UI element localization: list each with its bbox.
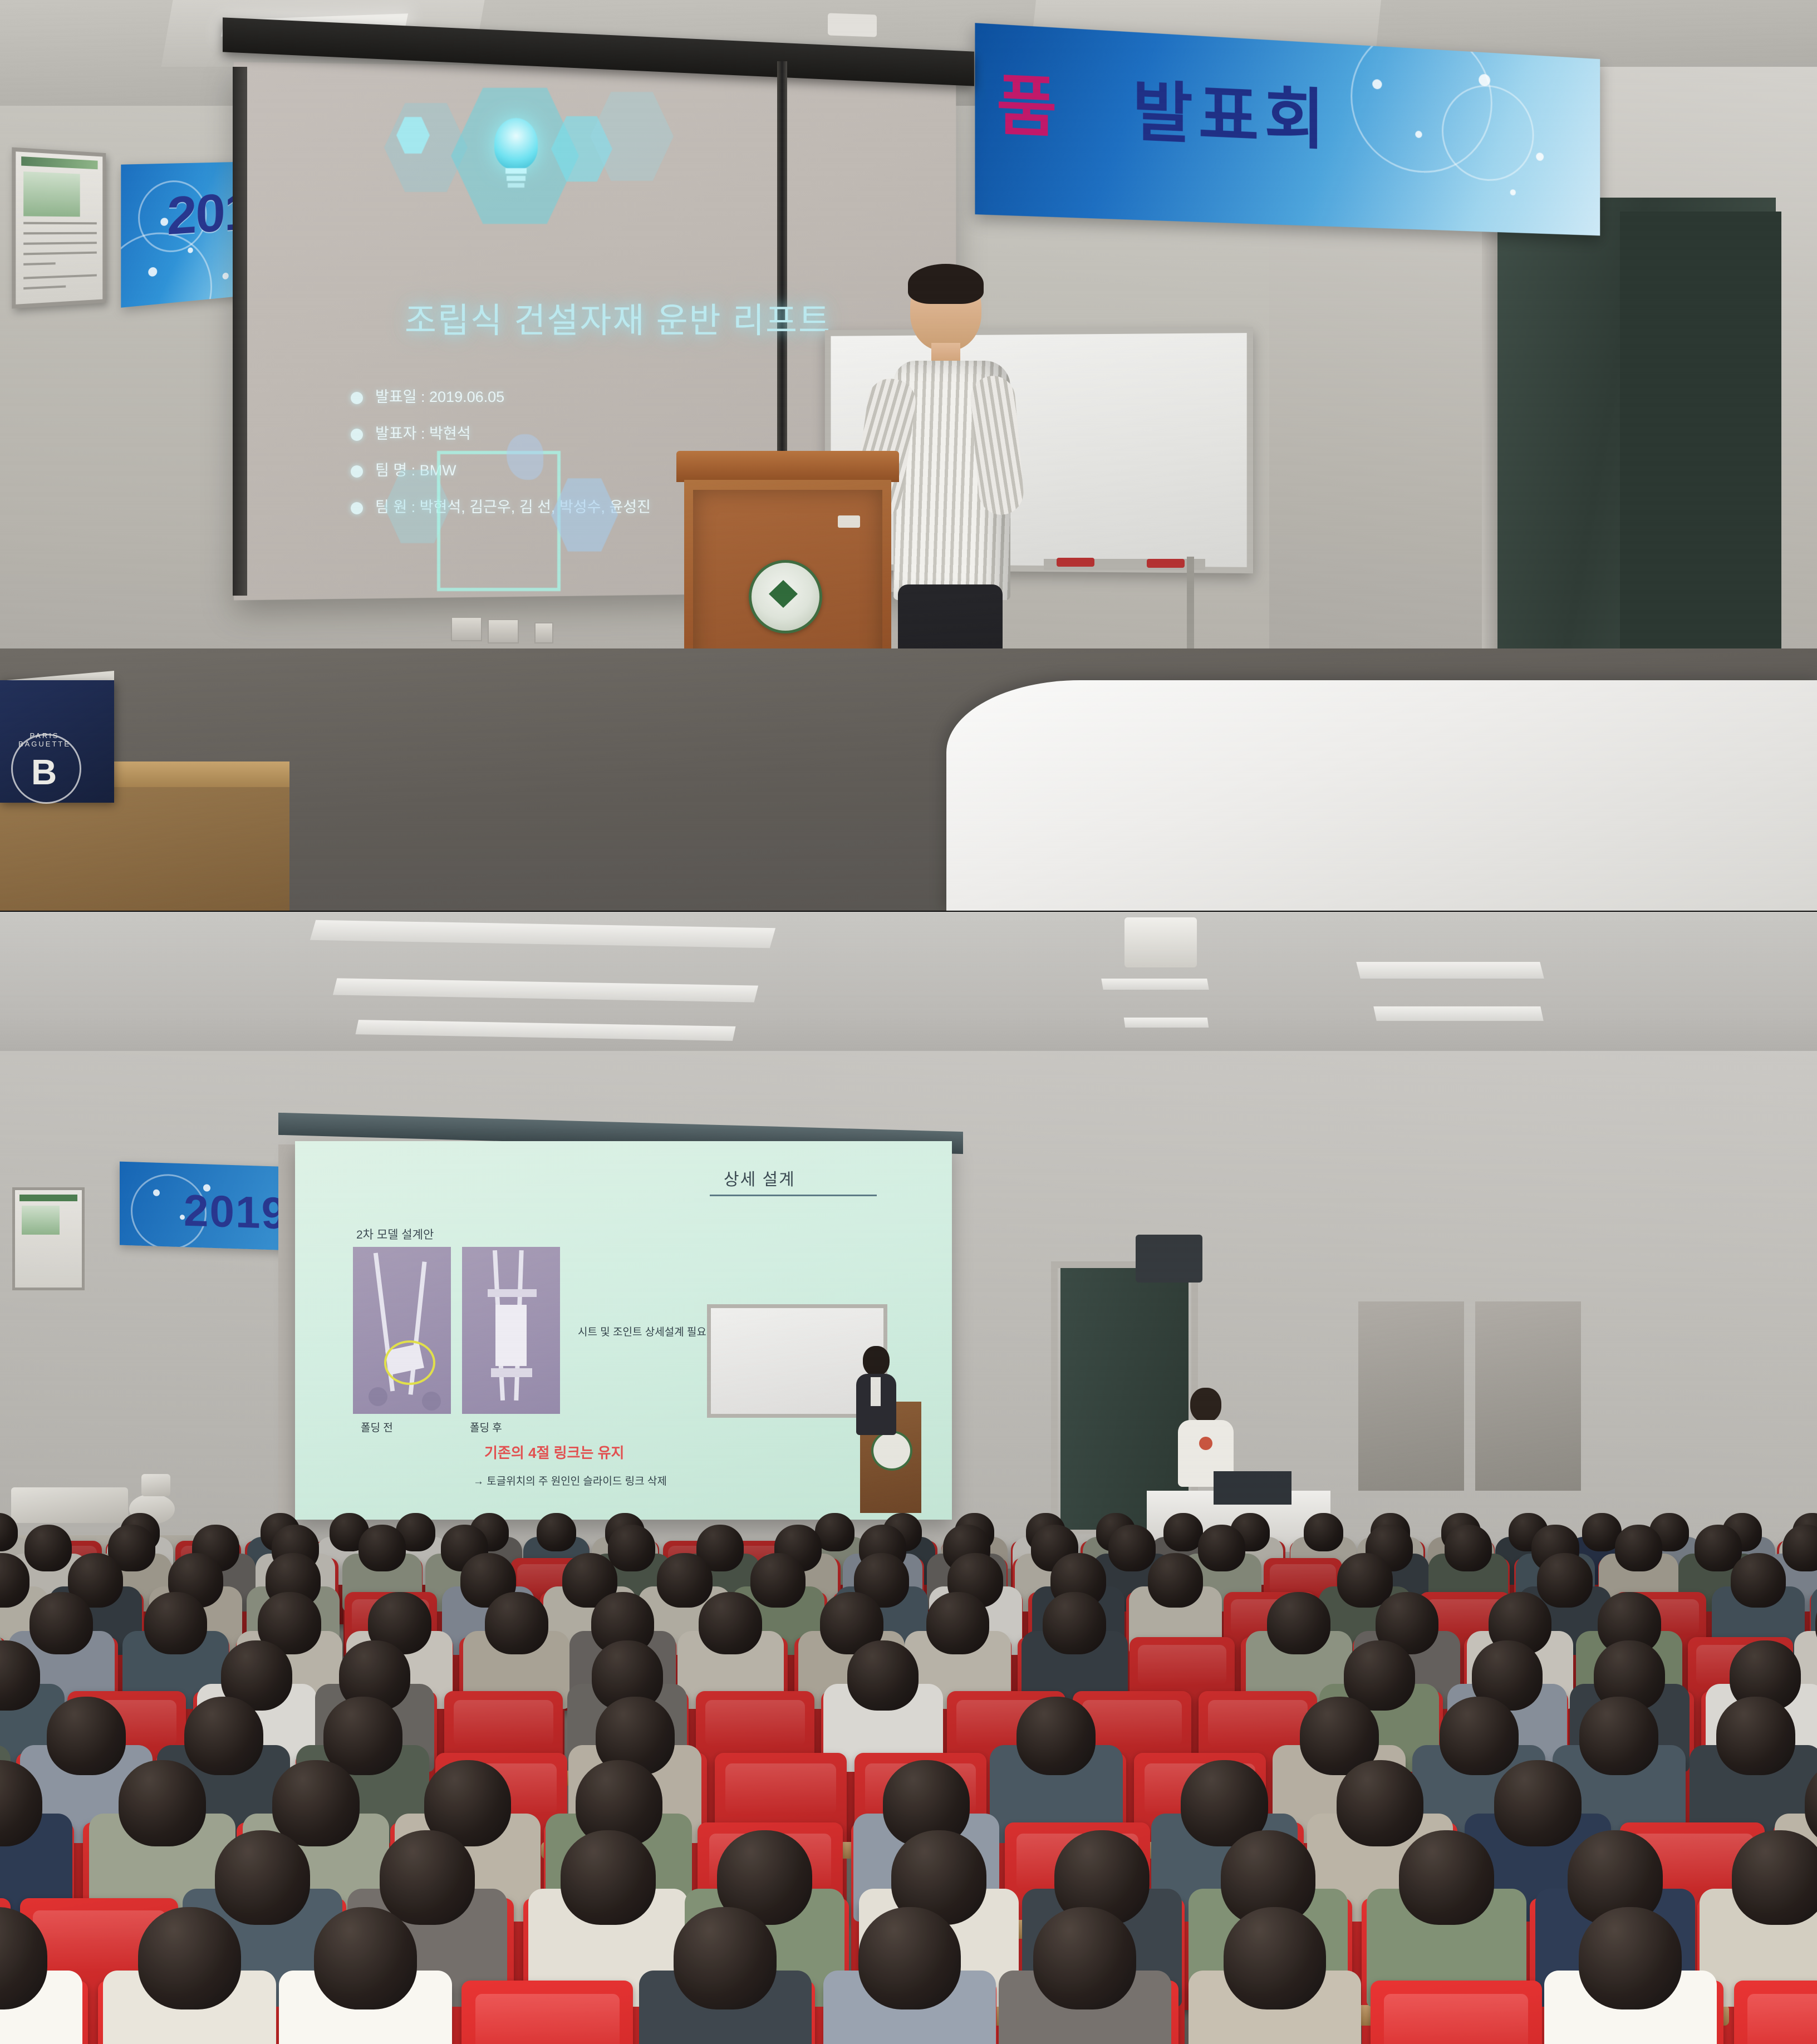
photo-panel-top: 2019 품 발표회 — [0, 0, 1817, 912]
audience-member-head — [184, 1697, 263, 1775]
audience-member-head — [323, 1697, 402, 1775]
hexagon-icon — [384, 445, 651, 590]
audience-member-head — [1440, 1697, 1519, 1775]
audience-member-head — [380, 1830, 475, 1925]
audience-member-head — [1731, 1553, 1786, 1608]
audience-member-head — [926, 1592, 990, 1654]
audience-member-head — [561, 1830, 656, 1925]
wall-notice-frame — [12, 1187, 85, 1290]
projector — [1124, 917, 1197, 967]
audience-member-head — [1732, 1830, 1817, 1925]
audience-member-head — [1337, 1760, 1423, 1846]
audience-member-head — [1043, 1592, 1106, 1654]
slide-red-line: 기존의 4절 링크는 유지 — [484, 1442, 624, 1462]
audience-member-head — [750, 1553, 806, 1608]
slide-side-note: 시트 및 조인트 상세설계 필요 — [578, 1324, 706, 1339]
equipment-item — [141, 1474, 170, 1496]
wall-panel — [1475, 1301, 1581, 1491]
slide-image — [462, 1247, 560, 1414]
bag-brand-text: PARIS BAGUETTE — [10, 731, 79, 748]
slide-image — [353, 1247, 451, 1414]
audience-member-head — [674, 1907, 777, 2009]
slide-arrow-line: → 토글위치의 주 원인인 슬라이드 링크 삭제 — [473, 1473, 667, 1488]
bag-logo-letter: B — [31, 751, 57, 793]
audience-member-head — [47, 1697, 126, 1775]
auditorium-seat[interactable] — [461, 1981, 633, 2044]
audience-member-head — [314, 1907, 417, 2009]
audience-member-head — [1445, 1525, 1492, 1571]
audience-member-head — [144, 1592, 208, 1654]
monitor — [1214, 1471, 1291, 1505]
audience-member-head — [1579, 1907, 1682, 2009]
wall-panel — [1358, 1301, 1464, 1491]
wall-notice-frame — [12, 148, 106, 309]
wall-outlet — [534, 622, 553, 643]
audience-member-head — [1615, 1525, 1662, 1571]
audience-member-head — [119, 1760, 205, 1846]
speaker-box — [1136, 1235, 1202, 1283]
projector-mount — [828, 13, 877, 37]
curved-counter — [946, 680, 1817, 912]
ceiling-light — [1101, 979, 1209, 990]
audience-member-head — [1716, 1697, 1795, 1775]
photo-collage: 2019 품 발표회 — [0, 0, 1817, 2044]
ceiling-light — [1124, 1018, 1209, 1028]
audience-member-head — [138, 1907, 241, 2009]
audience-area — [0, 1535, 1817, 2044]
audience-member-head — [1304, 1513, 1343, 1551]
audience-member-head — [1163, 1513, 1203, 1551]
photo-panel-bottom: 2019학 발표회 상세 설계 2차 모델 설계안 — [0, 912, 1817, 2044]
slide-header: 상세 설계 — [724, 1166, 795, 1190]
doorway-interior — [1620, 212, 1781, 701]
ceiling-light — [1356, 962, 1544, 979]
audience-member-head — [537, 1513, 576, 1551]
slide-header-rule — [710, 1195, 877, 1196]
slide-image-caption: 폴딩 후 — [470, 1419, 502, 1434]
audience-member-head — [1148, 1553, 1203, 1608]
paris-baguette-bag: B PARIS BAGUETTE — [0, 680, 114, 803]
audience-member-head — [24, 1525, 72, 1571]
audience-member-head — [485, 1592, 548, 1654]
audience-member-head — [1337, 1553, 1392, 1608]
audience-member-head — [1494, 1760, 1581, 1846]
marker-icon — [1147, 559, 1185, 568]
audience-member-head — [215, 1830, 310, 1925]
wall-outlet — [451, 617, 482, 641]
audience-member-head — [1033, 1907, 1136, 2009]
audience-member-head — [858, 1907, 961, 2009]
audience-member-head — [847, 1640, 919, 1711]
audience-member-head — [699, 1592, 762, 1654]
equipment-item — [11, 1487, 128, 1523]
banner-main-word: 발표회 — [1132, 75, 1330, 158]
auditorium-seat[interactable] — [1371, 1981, 1542, 2044]
audience-member-head — [608, 1525, 655, 1571]
audience-member-head — [272, 1760, 359, 1846]
audience-member-head — [30, 1592, 93, 1654]
slide-image-caption: 폴딩 전 — [361, 1419, 393, 1434]
speaker-standing — [851, 1346, 898, 1457]
audience-member-head — [1016, 1697, 1096, 1775]
auditorium-seat[interactable] — [1734, 1981, 1817, 2044]
hexagon-icon — [367, 83, 713, 267]
audience-member-head — [657, 1553, 712, 1608]
audience-member-head — [1267, 1592, 1330, 1654]
audience-member-head — [1198, 1525, 1245, 1571]
screen-left-edge — [233, 67, 247, 596]
audience-member-head — [1108, 1525, 1156, 1571]
audience-member-head — [359, 1525, 406, 1571]
audience-member-head — [1782, 1525, 1817, 1571]
wall-outlet — [488, 619, 519, 643]
slide-bullet-item: 발표일 : 2019.06.05 — [351, 379, 907, 415]
slide-subhead: 2차 모델 설계안 — [356, 1226, 434, 1242]
audience-member-head — [1224, 1907, 1327, 2009]
banner-highlight-word: 품 — [996, 69, 1063, 145]
audience-member-head — [1399, 1830, 1494, 1925]
audience-member-head — [1579, 1697, 1658, 1775]
ceiling-light — [1373, 1006, 1544, 1021]
lightbulb-icon — [494, 118, 538, 169]
audience-member-head — [1537, 1553, 1592, 1608]
marker-icon — [1057, 558, 1094, 567]
